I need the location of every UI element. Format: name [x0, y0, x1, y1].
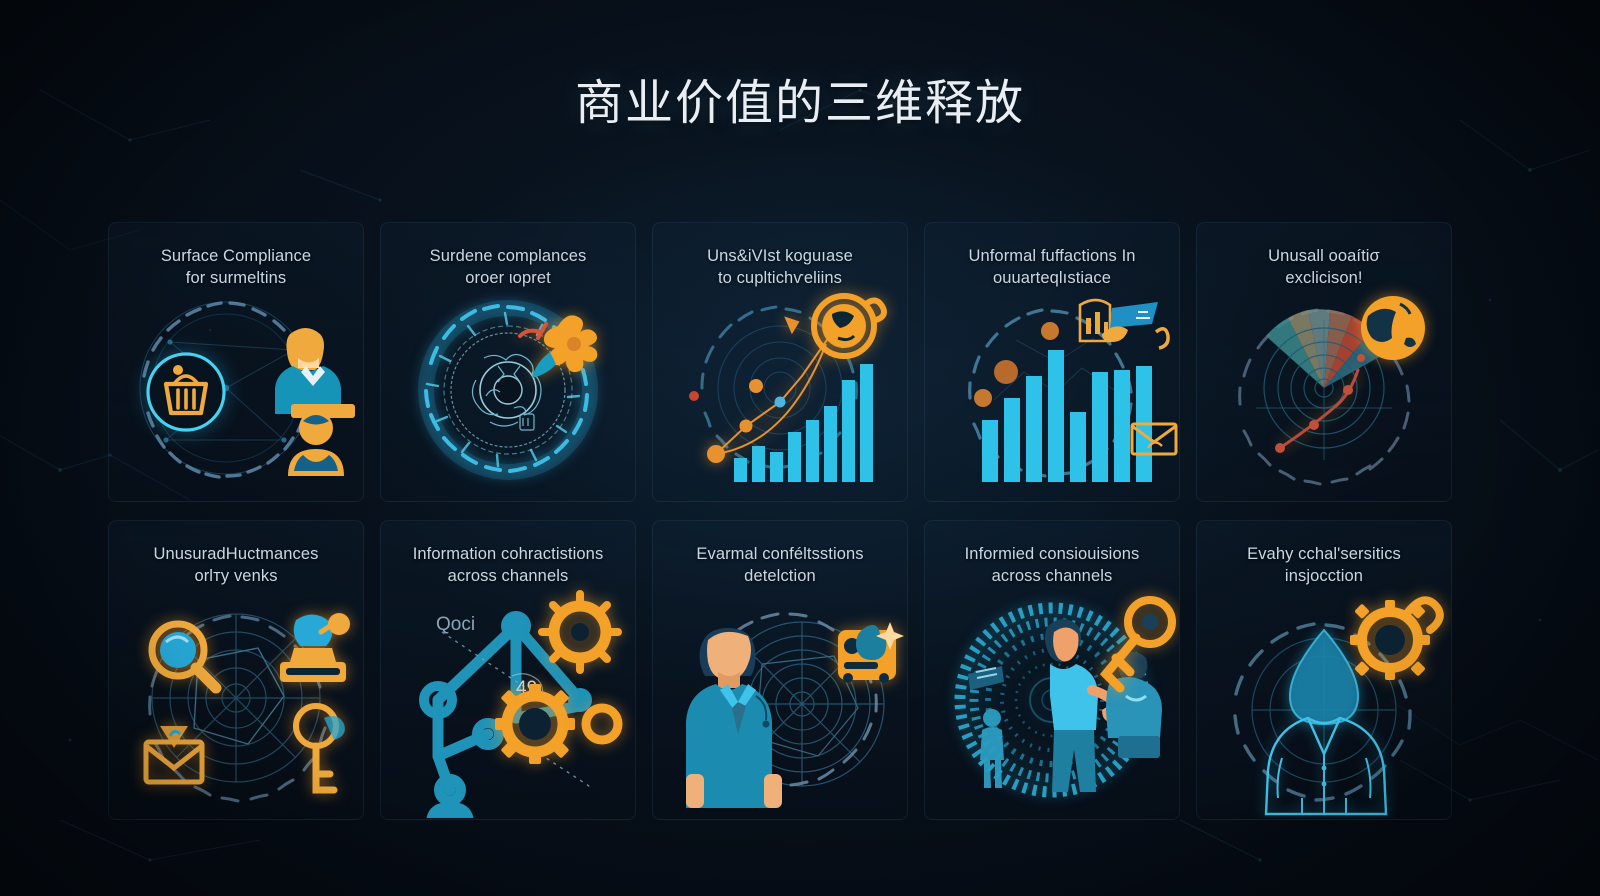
card-evahy-cchalsersitics[interactable]: Evahy cchal'sersitics insjocction: [1196, 520, 1452, 820]
card-illustration: [925, 577, 1179, 819]
card-title: Unusall ooaítiσ exclicison!: [1211, 245, 1437, 290]
card-title-line2: orlту venks: [123, 565, 349, 587]
card-title-line1: Uns&iVIst koguıase: [667, 245, 893, 267]
card-title-line1: Informied consiouisions: [939, 543, 1165, 565]
card-title-line1: Evarmal conféltsstions: [667, 543, 893, 565]
card-title-line2: across channels: [395, 565, 621, 587]
card-unusuradhuctmances[interactable]: UnusuradHuctmances orlту venks: [108, 520, 364, 820]
card-grid: Surface Compliance for surmeltins: [108, 222, 1444, 820]
person-podium-icon: [280, 613, 350, 682]
card-title-line2: detelction: [667, 565, 893, 587]
card-surdene-complances[interactable]: Surdene complances oroer ιopret: [380, 222, 636, 502]
document-icon: [968, 666, 1004, 690]
gear-icon-secondary: [495, 684, 575, 764]
card-title: Uns&iVIst koguıase to cupltichѵeliins: [667, 245, 893, 290]
card-title-line2: for surmeltins: [123, 267, 349, 289]
card-title-line1: Unformal fuffactions In: [939, 245, 1165, 267]
card-evarmal-confeltsstions[interactable]: Evarmal conféltsstions detelction: [652, 520, 908, 820]
page-title-wrap: 商业价值的三维释放: [0, 44, 1600, 165]
globe-icon: [1361, 296, 1425, 360]
card-title-line1: Evahy cchal'sersitics: [1211, 543, 1437, 565]
orange-device-icon: [838, 622, 904, 683]
globe-compass-icon: [814, 296, 884, 356]
card-title-line2: oroer ιopret: [395, 267, 621, 289]
card-title-line1: Information cohractistions: [395, 543, 621, 565]
card-title: Evahy cchal'sersitics insjocction: [1211, 543, 1437, 588]
gear-magnifier-icon: [1350, 600, 1440, 680]
card-title-line2: insjocction: [1211, 565, 1437, 587]
card-title: Surdene complances oroer ιopret: [395, 245, 621, 290]
trend-nodes: [689, 379, 786, 463]
card-illustration: [925, 279, 1179, 501]
businessman-figure: [686, 628, 782, 808]
card-illustration: [109, 279, 363, 501]
card-title-line2: ouuarteqlıstiace: [939, 267, 1165, 289]
shopping-basket-icon: [148, 354, 224, 430]
card-title-line1: Surface Compliance: [123, 245, 349, 267]
card-title: Evarmal conféltsstions detelction: [667, 543, 893, 588]
card-title-line1: UnusuradHuctmances: [123, 543, 349, 565]
card-illustration: Qoci 49: [381, 577, 635, 819]
small-figure: [980, 709, 1004, 788]
page-title: 商业价值的三维释放: [575, 76, 1025, 133]
card-unsaivist-koguase[interactable]: Uns&iVIst koguıase to cupltichѵeliins: [652, 222, 908, 502]
card-title: Information cohractistions across channe…: [395, 543, 621, 588]
user-avatar-icon: [288, 411, 344, 476]
magnifier-icon: [152, 624, 216, 688]
gear-icon: [542, 594, 618, 670]
card-unformal-fuffactions[interactable]: Unformal fuffactions In ouuarteqlıstiace: [924, 222, 1180, 502]
card-illustration: [381, 279, 635, 501]
card-title-line2: to cupltichѵeliins: [667, 267, 893, 289]
card-unusall-ooaitio[interactable]: Unusall ooaítiσ exclicison!: [1196, 222, 1452, 502]
card-title-line2: exclicison!: [1211, 267, 1437, 289]
card-illustration: [109, 577, 363, 819]
card-title-line2: across channels: [939, 565, 1165, 587]
card-information-cohractistions[interactable]: Information cohractistions across channe…: [380, 520, 636, 820]
card-title: UnusuradHuctmances orlту venks: [123, 543, 349, 588]
card-illustration: [653, 577, 907, 819]
flag-icon: [1102, 302, 1168, 348]
card-informied-consiouisions[interactable]: Informied consiouisions across channels: [924, 520, 1180, 820]
card-title: Informied consiouisions across channels: [939, 543, 1165, 588]
card-title: Surface Compliance for surmeltins: [123, 245, 349, 290]
card-illustration: [653, 279, 907, 501]
businesswoman-figure: [275, 328, 355, 418]
slide-canvas: 商业价值的三维释放 Surface Compliance for surmelt…: [0, 0, 1600, 896]
card-surface-compliance[interactable]: Surface Compliance for surmeltins: [108, 222, 364, 502]
ring-icon: [586, 708, 618, 740]
card-title-line1: Unusall ooaítiσ: [1211, 245, 1437, 267]
orange-dots: [974, 322, 1059, 407]
card-illustration: [1197, 577, 1451, 819]
card-title: Unformal fuffactions In ouuarteqlıstiace: [939, 245, 1165, 290]
network-label-qoci: Qoci: [436, 614, 475, 635]
card-title-line1: Surdene complances: [395, 245, 621, 267]
card-illustration: [1197, 279, 1451, 501]
